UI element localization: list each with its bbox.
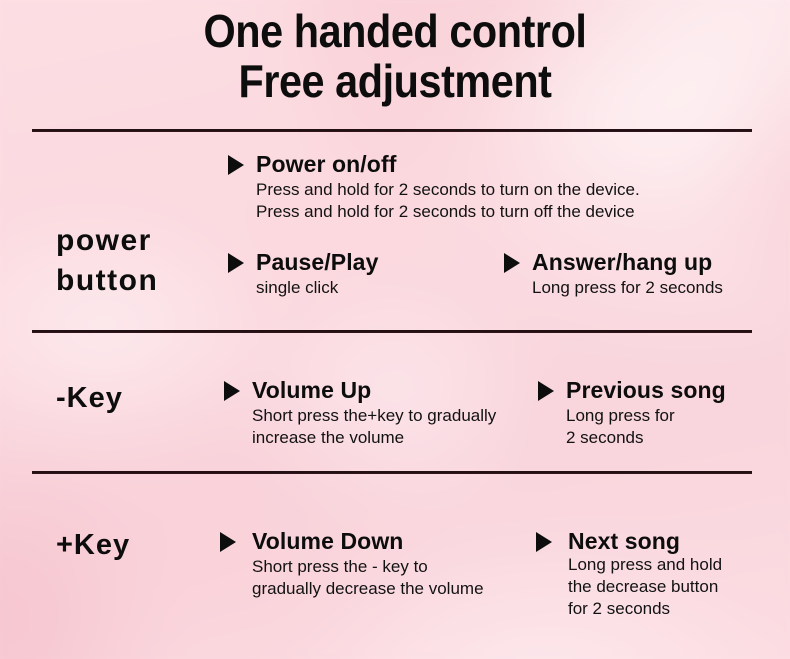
triangle-right-icon [536, 532, 552, 552]
feature-description: single click [256, 277, 378, 299]
feature-title: Next song [568, 527, 680, 555]
feature-title: Previous song [566, 376, 726, 404]
feature-power-on-off: Power on/off Press and hold for 2 second… [228, 150, 640, 223]
feature-description: Long press and hold the decrease button … [568, 554, 722, 620]
feature-title: Volume Down [252, 527, 403, 555]
section-label-power-button: power button [56, 221, 158, 301]
feature-volume-up: Volume Up Short press the+key to gradual… [224, 376, 496, 449]
infographic-page: One handed control Free adjustment power… [0, 0, 790, 659]
section-divider-bottom [32, 471, 752, 474]
feature-heading: Pause/Play [228, 248, 378, 276]
section-divider-middle [32, 330, 752, 333]
triangle-right-icon [538, 381, 554, 401]
triangle-right-icon [228, 155, 244, 175]
section-label-plus-key: +Key [56, 528, 130, 562]
feature-title: Answer/hang up [532, 248, 712, 276]
title-line-2: Free adjustment [40, 56, 751, 106]
feature-previous-song: Previous song Long press for 2 seconds [538, 376, 726, 449]
feature-title: Power on/off [256, 150, 396, 178]
feature-volume-down: Volume Down Short press the - key to gra… [220, 527, 484, 600]
page-title: One handed control Free adjustment [0, 6, 790, 106]
section-label-minus-key: -Key [56, 381, 123, 415]
feature-title: Pause/Play [256, 248, 378, 276]
triangle-right-icon [504, 253, 520, 273]
feature-heading: Next song [536, 527, 722, 555]
triangle-right-icon [224, 381, 240, 401]
feature-description: Long press for 2 seconds [566, 405, 726, 449]
feature-heading: Volume Up [224, 376, 496, 404]
feature-heading: Previous song [538, 376, 726, 404]
feature-heading: Volume Down [220, 527, 484, 555]
feature-description: Press and hold for 2 seconds to turn on … [256, 179, 640, 223]
feature-pause-play: Pause/Play single click [228, 248, 378, 299]
triangle-right-icon [220, 532, 236, 552]
feature-heading: Power on/off [228, 150, 640, 178]
feature-title: Volume Up [252, 376, 371, 404]
feature-description: Long press for 2 seconds [532, 277, 723, 299]
section-divider-top [32, 129, 752, 132]
feature-next-song: Next song Long press and hold the decrea… [536, 527, 722, 620]
feature-description: Short press the+key to gradually increas… [252, 405, 496, 449]
feature-answer-hang-up: Answer/hang up Long press for 2 seconds [504, 248, 723, 299]
feature-description: Short press the - key to gradually decre… [252, 556, 484, 600]
triangle-right-icon [228, 253, 244, 273]
feature-heading: Answer/hang up [504, 248, 723, 276]
title-line-1: One handed control [40, 6, 751, 56]
